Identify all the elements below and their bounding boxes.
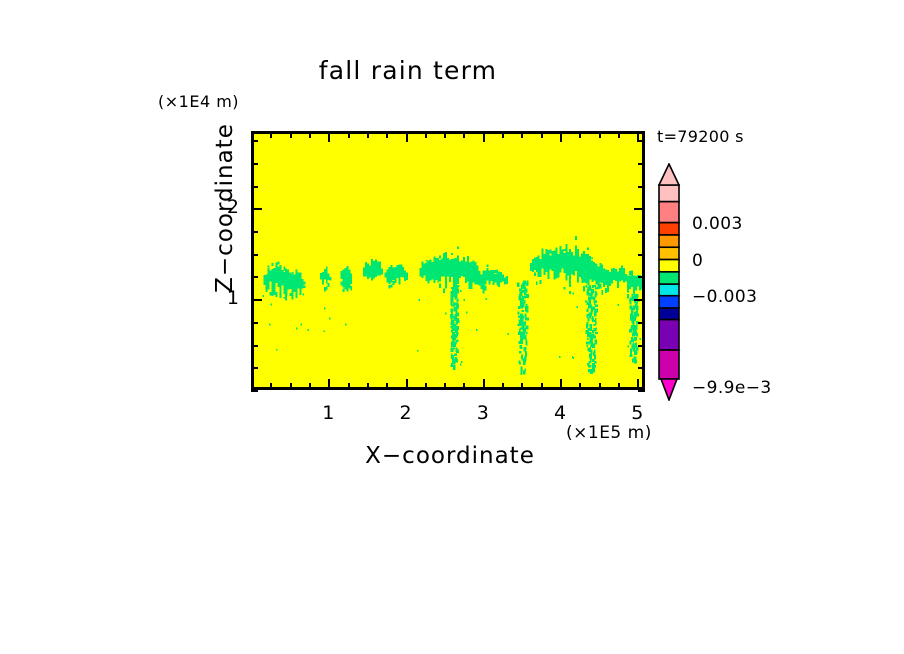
x-tick-top xyxy=(425,131,427,138)
x-tick xyxy=(386,383,388,390)
colorbar-tick-label: −9.9e−3 xyxy=(692,378,772,398)
x-tick-label: 2 xyxy=(386,402,426,424)
x-tick-label: 3 xyxy=(463,402,503,424)
x-tick-top xyxy=(290,131,292,138)
y-tick xyxy=(251,140,258,142)
y-tick-right xyxy=(638,254,645,256)
x-tick xyxy=(463,383,465,390)
x-tick-top xyxy=(463,131,465,138)
x-tick xyxy=(541,383,543,390)
x-tick xyxy=(502,383,504,390)
x-tick xyxy=(309,383,311,390)
x-tick xyxy=(599,383,601,390)
x-tick xyxy=(637,379,639,390)
x-tick-top xyxy=(348,131,350,138)
y-tick xyxy=(251,208,262,210)
y-tick-right xyxy=(634,299,645,301)
y-tick xyxy=(251,390,258,392)
heatmap-field xyxy=(254,134,642,387)
x-tick xyxy=(348,383,350,390)
x-tick-top xyxy=(560,131,562,142)
y-tick-right xyxy=(638,140,645,142)
x-tick-label: 1 xyxy=(308,402,348,424)
y-tick xyxy=(251,231,258,233)
x-tick-top xyxy=(483,131,485,142)
y-tick-right xyxy=(634,208,645,210)
colorbar-tick-label: 0 xyxy=(692,251,703,271)
y-tick-right xyxy=(638,231,645,233)
colorbar-tick-label: 0.003 xyxy=(692,214,743,234)
x-tick-top xyxy=(309,131,311,138)
y-tick xyxy=(251,163,258,165)
colorbar xyxy=(655,163,683,401)
x-tick xyxy=(579,383,581,390)
x-axis-title: X−coordinate xyxy=(285,443,615,469)
x-tick xyxy=(618,383,620,390)
y-tick-right xyxy=(638,186,645,188)
x-tick xyxy=(328,379,330,390)
x-tick-top xyxy=(367,131,369,138)
y-tick-right xyxy=(638,276,645,278)
x-tick xyxy=(290,383,292,390)
x-tick-top xyxy=(270,131,272,138)
y-tick xyxy=(251,276,258,278)
x-tick xyxy=(521,383,523,390)
x-tick xyxy=(560,379,562,390)
chart-title: fall rain term xyxy=(0,56,860,85)
colorbar-tick-label: −0.003 xyxy=(692,287,757,307)
y-tick xyxy=(251,254,258,256)
x-tick-top xyxy=(406,131,408,142)
y-tick-right xyxy=(638,163,645,165)
x-tick xyxy=(251,383,253,390)
x-tick xyxy=(425,383,427,390)
x-tick-top xyxy=(502,131,504,138)
x-tick xyxy=(444,383,446,390)
x-tick-top xyxy=(579,131,581,138)
x-tick-top xyxy=(251,131,253,138)
x-tick-label: 4 xyxy=(540,402,580,424)
y-tick xyxy=(251,186,258,188)
x-tick xyxy=(270,383,272,390)
x-tick xyxy=(367,383,369,390)
y-tick-right xyxy=(638,322,645,324)
x-tick-top xyxy=(444,131,446,138)
y-tick xyxy=(251,345,258,347)
time-stamp-annotation: t=79200 s xyxy=(657,127,744,146)
x-tick-top xyxy=(328,131,330,142)
x-tick-top xyxy=(541,131,543,138)
colorbar-gradient xyxy=(655,163,683,401)
plot-area xyxy=(251,131,645,390)
y-axis-title: Z−coordinate xyxy=(212,68,238,348)
y-tick xyxy=(251,367,258,369)
y-tick-right xyxy=(638,345,645,347)
x-tick-top xyxy=(386,131,388,138)
x-tick-top xyxy=(599,131,601,138)
x-tick xyxy=(483,379,485,390)
x-tick-top xyxy=(618,131,620,138)
x-tick-label: 5 xyxy=(617,402,657,424)
y-tick-right xyxy=(638,367,645,369)
y-tick xyxy=(251,322,258,324)
y-tick-right xyxy=(638,390,645,392)
x-tick xyxy=(406,379,408,390)
x-axis-unit-caption: (×1E5 m) xyxy=(566,423,652,443)
figure-canvas: fall rain term (×1E4 m) t=79200 s 123451… xyxy=(0,0,904,654)
y-tick xyxy=(251,299,262,301)
x-tick-top xyxy=(521,131,523,138)
